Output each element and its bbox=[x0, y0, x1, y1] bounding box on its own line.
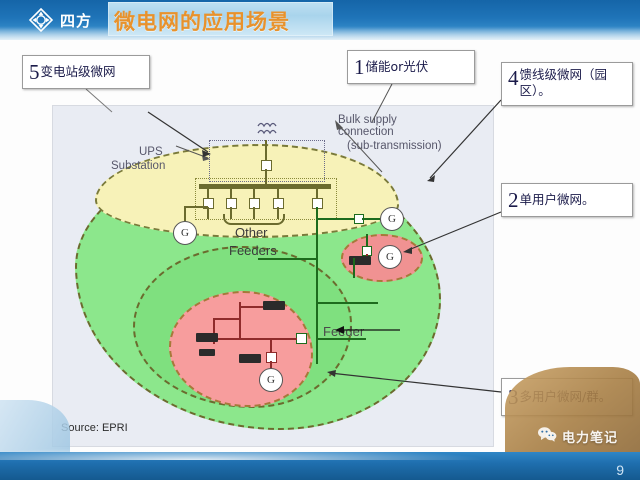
compass-diamond-icon bbox=[28, 7, 54, 33]
brand-logo: 四方 bbox=[28, 6, 92, 34]
incomer-line bbox=[265, 140, 267, 160]
callout-1-number: 1 bbox=[354, 57, 366, 78]
callout-5-text: 变电站级微网 bbox=[41, 64, 116, 80]
feeder-breaker-2 bbox=[226, 198, 237, 209]
footer-wave bbox=[0, 444, 640, 460]
callout-4-number: 4 bbox=[508, 67, 520, 89]
generator-multi-customer: G bbox=[259, 368, 283, 392]
multi-customer-breaker bbox=[296, 333, 307, 344]
multi-gen-breaker bbox=[266, 352, 277, 363]
callout-1[interactable]: 1 储能or光伏 bbox=[347, 50, 475, 84]
callout-1-text: 储能or光伏 bbox=[366, 59, 429, 75]
feeder-branch-vert bbox=[353, 258, 355, 278]
source-credit: Source: EPRI bbox=[61, 422, 128, 434]
callout-5-number: 5 bbox=[29, 62, 41, 83]
page-number: 9 bbox=[616, 462, 624, 478]
building-multi-2 bbox=[196, 333, 218, 342]
callout-2-number: 2 bbox=[508, 190, 520, 211]
multi-customer-tap-b bbox=[239, 306, 263, 308]
incomer-line-lower bbox=[265, 169, 267, 185]
label-sub-transmission: (sub-transmission) bbox=[347, 140, 442, 153]
label-connection: connection bbox=[338, 126, 394, 139]
substation-gen-line bbox=[184, 207, 186, 221]
callout-4-text: 馈线级微网（园区）。 bbox=[520, 67, 627, 98]
multi-customer-tap-a bbox=[213, 318, 240, 320]
main-feeder-trunk bbox=[316, 207, 318, 303]
callout-5[interactable]: 5 变电站级微网 bbox=[22, 55, 150, 89]
feeder-branch-1b bbox=[362, 218, 380, 220]
multi-gen-line bbox=[270, 338, 272, 352]
label-feeder: Feeder bbox=[323, 325, 364, 340]
label-feeders: Feeders bbox=[229, 244, 277, 259]
callout-2[interactable]: 2 单用户微网。 bbox=[501, 183, 633, 217]
other-feeders-brace bbox=[223, 214, 285, 225]
feeder-breaker-3 bbox=[249, 198, 260, 209]
substation-busbar bbox=[199, 184, 331, 189]
page-title: 微电网的应用场景 bbox=[114, 6, 334, 36]
generator-single-customer: G bbox=[378, 245, 402, 269]
callout-2-text: 单用户微网。 bbox=[520, 192, 595, 208]
microgrid-diagram: G G G G UPS bbox=[52, 105, 494, 447]
feeder-drop-1 bbox=[207, 189, 209, 198]
label-bulk-supply: Bulk supply bbox=[338, 114, 397, 127]
brand-name: 四方 bbox=[60, 10, 92, 31]
feeder-drop-2 bbox=[230, 189, 232, 198]
generator-substation: G bbox=[173, 221, 197, 245]
transformer-icon bbox=[256, 120, 276, 134]
multi-customer-feed bbox=[213, 338, 297, 340]
incomer-breaker bbox=[261, 160, 272, 171]
slide-canvas: 微电网的应用场景 四方 bbox=[0, 0, 640, 480]
label-ups: UPS bbox=[139, 146, 163, 159]
feeder-trunk-lower bbox=[316, 302, 318, 364]
feeder-breaker-4 bbox=[273, 198, 284, 209]
feeder-drop-4 bbox=[277, 189, 279, 198]
feeder-tail-1 bbox=[207, 207, 209, 219]
substation-gen-tap bbox=[184, 206, 208, 208]
feeder-branch-1 bbox=[316, 218, 354, 220]
building-multi-4 bbox=[239, 354, 261, 363]
building-multi-1 bbox=[263, 301, 285, 310]
building-multi-3 bbox=[199, 349, 215, 356]
feeder-lateral-2 bbox=[316, 302, 378, 304]
label-substation: Substation bbox=[111, 160, 165, 173]
label-other: Other bbox=[235, 226, 268, 241]
feeder-drop-3 bbox=[253, 189, 255, 198]
generator-feeder: G bbox=[380, 207, 404, 231]
multi-customer-riser bbox=[239, 302, 241, 339]
single-customer-drop bbox=[366, 234, 368, 246]
feeder-drop-5 bbox=[316, 189, 318, 198]
callout-4[interactable]: 4 馈线级微网（园区）。 bbox=[501, 62, 633, 106]
